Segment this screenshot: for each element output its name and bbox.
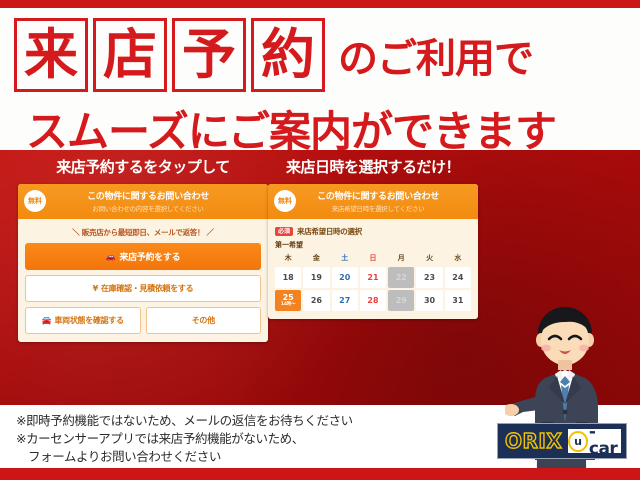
required-badge: 必須 bbox=[275, 227, 293, 236]
headline-block: 来 店 予 約 のご利用で スムーズにご案内ができます bbox=[0, 8, 640, 150]
free-badge-icon: 無料 bbox=[274, 190, 296, 212]
footer-notes: ※即時予約機能ではないため、メールの返信をお待ちください ※カーセンサーアプリで… bbox=[16, 412, 476, 466]
calendar-day-number: 24 bbox=[452, 274, 463, 282]
calendar-day-number: 22 bbox=[396, 274, 407, 282]
vehicle-condition-button[interactable]: 🚘 車両状態を確認する bbox=[25, 307, 141, 334]
calendar-day-number: 29 bbox=[396, 297, 407, 305]
inquiry-form-header: 無料 この物件に関するお問い合わせ お問い合わせの内容を選択してください bbox=[18, 184, 268, 219]
headline-tail-text: のご利用で bbox=[338, 26, 533, 84]
calendar-day-27[interactable]: 27 bbox=[332, 290, 358, 311]
u-circle-icon: u bbox=[568, 431, 588, 452]
reserve-visit-button-label: 来店予約をする bbox=[119, 250, 180, 263]
stock-quote-button[interactable]: ¥ 在庫確認・見積依頼をする bbox=[25, 275, 261, 302]
feature-column-left: 来店予約するをタップして 無料 この物件に関するお問い合わせ お問い合わせの内容… bbox=[18, 156, 268, 342]
calendar-weekday-土: 土 bbox=[332, 253, 358, 265]
other-button-label: その他 bbox=[192, 315, 215, 326]
calendar-day-number: 31 bbox=[452, 297, 463, 305]
car-front-icon: 🚘 bbox=[42, 317, 52, 325]
inquiry-form-title: この物件に関するお問い合わせ bbox=[52, 189, 244, 202]
calendar-form-mockup: 無料 この物件に関するお問い合わせ 来店希望日時を選択してください 必須 来店希… bbox=[268, 184, 478, 319]
inquiry-form-subtitle: お問い合わせの内容を選択してください bbox=[52, 203, 244, 213]
calendar-form-body: 必須 来店希望日時の選択 第一希望 木金土日月火水 18192021222324… bbox=[268, 219, 478, 319]
footer-note-2: ※カーセンサーアプリでは来店予約機能がないため、 bbox=[16, 430, 476, 448]
ucar-wordmark: u -car bbox=[567, 428, 622, 454]
calendar-weekday-月: 月 bbox=[388, 253, 414, 265]
calendar-day-29: 29 bbox=[388, 290, 414, 311]
calendar-day-20[interactable]: 20 bbox=[332, 267, 358, 288]
required-field-row: 必須 来店希望日時の選択 bbox=[275, 226, 471, 237]
feature-panel: 来店予約するをタップして 無料 この物件に関するお問い合わせ お問い合わせの内容… bbox=[0, 150, 640, 405]
required-field-label: 来店希望日時の選択 bbox=[297, 226, 362, 237]
reply-promise-text: ＼ 販売店から最短即日、メールで返答！ ／ bbox=[25, 227, 261, 238]
calendar-day-22: 22 bbox=[388, 267, 414, 288]
calendar-day-19[interactable]: 19 bbox=[303, 267, 329, 288]
calendar-weekday-日: 日 bbox=[360, 253, 386, 265]
orix-wordmark: ORIX bbox=[498, 431, 567, 451]
inquiry-form-body: ＼ 販売店から最短即日、メールで返答！ ／ 🚗 来店予約をする ¥ 在庫確認・見… bbox=[18, 219, 268, 342]
calendar-day-number: 26 bbox=[311, 297, 322, 305]
vehicle-condition-button-label: 車両状態を確認する bbox=[54, 315, 123, 326]
visit-reservation-banner: 来 店 予 約 のご利用で スムーズにご案内ができます 来店予約するをタップして… bbox=[0, 0, 640, 480]
calendar-weekday-header: 木金土日月火水 bbox=[275, 253, 471, 265]
calendar-day-18[interactable]: 18 bbox=[275, 267, 301, 288]
other-button[interactable]: その他 bbox=[146, 307, 262, 334]
car-wordmark-text: -car bbox=[589, 424, 621, 458]
calendar-form-subtitle: 来店希望日時を選択してください bbox=[302, 203, 454, 213]
calendar-week-1: 18192021222324 bbox=[275, 267, 471, 288]
calendar-weekday-金: 金 bbox=[303, 253, 329, 265]
calendar-form-header-text: この物件に関するお問い合わせ 来店希望日時を選択してください bbox=[302, 189, 472, 213]
footer-note-1: ※即時予約機能ではないため、メールの返信をお待ちください bbox=[16, 412, 476, 430]
calendar-day-number: 25 bbox=[283, 294, 294, 302]
calendar-weekday-火: 火 bbox=[416, 253, 442, 265]
calendar-day-24[interactable]: 24 bbox=[445, 267, 471, 288]
right-column-title: 来店日時を選択するだけ！ bbox=[268, 156, 478, 177]
calendar-day-number: 21 bbox=[367, 274, 378, 282]
stock-quote-button-label: 在庫確認・見積依頼をする bbox=[101, 283, 193, 294]
footer-note-3: フォームよりお問い合わせください bbox=[16, 448, 476, 466]
left-column-title: 来店予約するをタップして bbox=[18, 156, 268, 177]
kanji-box-2: 店 bbox=[93, 18, 167, 92]
reserve-visit-button[interactable]: 🚗 来店予約をする bbox=[25, 243, 261, 270]
calendar-day-21[interactable]: 21 bbox=[360, 267, 386, 288]
calendar-day-number: 27 bbox=[339, 297, 350, 305]
calendar-day-timeslot: 14時～ bbox=[281, 303, 295, 308]
bottom-red-rule bbox=[0, 468, 640, 480]
feature-column-right: 来店日時を選択するだけ！ 無料 この物件に関するお問い合わせ 来店希望日時を選択… bbox=[268, 156, 478, 319]
calendar-day-number: 30 bbox=[424, 297, 435, 305]
calendar-day-number: 19 bbox=[311, 274, 322, 282]
inquiry-form-header-text: この物件に関するお問い合わせ お問い合わせの内容を選択してください bbox=[52, 189, 262, 213]
calendar-day-number: 20 bbox=[339, 274, 350, 282]
calendar-day-28[interactable]: 28 bbox=[360, 290, 386, 311]
headline-row-1: 来 店 予 約 のご利用で bbox=[14, 18, 533, 92]
calendar-weekday-水: 水 bbox=[445, 253, 471, 265]
free-badge-icon: 無料 bbox=[24, 190, 46, 212]
calendar-day-30[interactable]: 30 bbox=[416, 290, 442, 311]
calendar-day-number: 28 bbox=[367, 297, 378, 305]
calendar-day-number: 23 bbox=[424, 274, 435, 282]
car-icon: 🚗 bbox=[106, 253, 116, 261]
inquiry-form-mockup: 無料 この物件に関するお問い合わせ お問い合わせの内容を選択してください ＼ 販… bbox=[18, 184, 268, 342]
kanji-box-3: 予 bbox=[172, 18, 246, 92]
calendar-form-title: この物件に関するお問い合わせ bbox=[302, 189, 454, 202]
calendar-form-header: 無料 この物件に関するお問い合わせ 来店希望日時を選択してください bbox=[268, 184, 478, 219]
top-red-rule bbox=[0, 0, 640, 8]
calendar-day-number: 18 bbox=[283, 274, 294, 282]
yen-icon: ¥ bbox=[93, 285, 98, 293]
kanji-box-1: 来 bbox=[14, 18, 88, 92]
first-preference-label: 第一希望 bbox=[275, 240, 471, 250]
orix-ucar-logo: ORIX u -car bbox=[497, 423, 627, 459]
calendar-day-25[interactable]: 2514時～ bbox=[275, 290, 301, 311]
secondary-button-row: 🚘 車両状態を確認する その他 bbox=[25, 307, 261, 334]
calendar-week-2: 2514時～262728293031 bbox=[275, 290, 471, 311]
calendar-day-23[interactable]: 23 bbox=[416, 267, 442, 288]
kanji-box-4: 約 bbox=[251, 18, 325, 92]
calendar-day-26[interactable]: 26 bbox=[303, 290, 329, 311]
calendar-weekday-木: 木 bbox=[275, 253, 301, 265]
calendar-day-31[interactable]: 31 bbox=[445, 290, 471, 311]
